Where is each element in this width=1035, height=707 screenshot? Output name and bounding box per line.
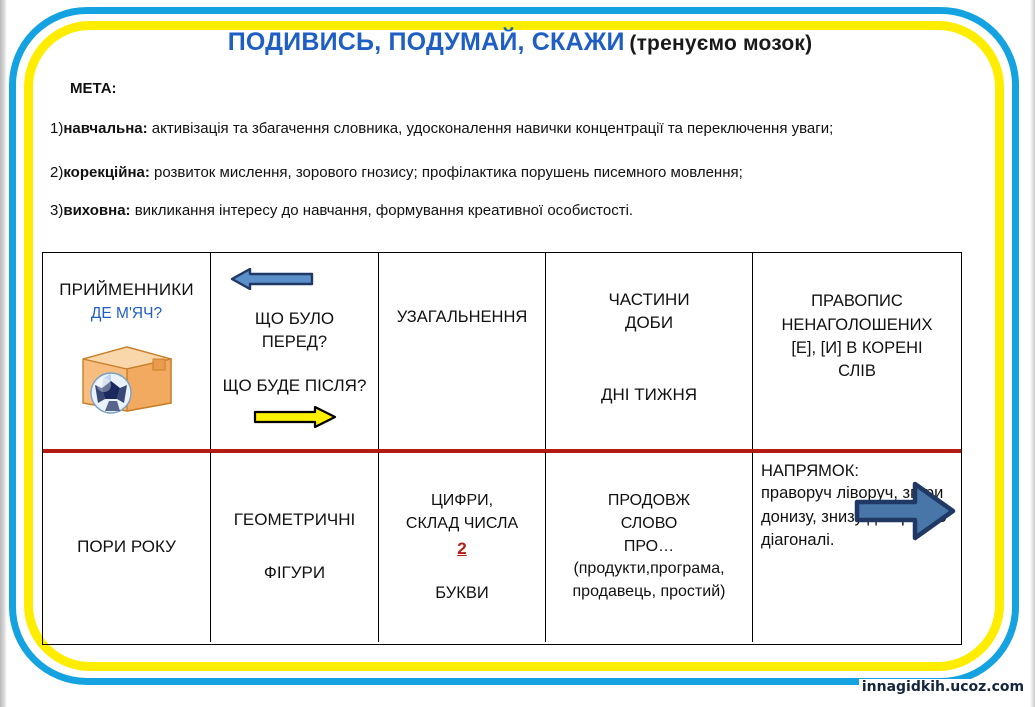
cell-geometric-figures-line1: ГЕОМЕТРИЧНІ (234, 509, 356, 532)
goal-item-1: 1)навчальна: активізація та збагачення с… (50, 120, 833, 137)
goal-item-2-bold: корекційна: (63, 164, 150, 181)
arrow-right-yellow-icon (253, 406, 337, 434)
cell-spelling-line3: [Е], [И] В КОРЕНІ (781, 337, 932, 360)
cell-seasons[interactable]: ПОРИ РОКУ (43, 452, 211, 642)
goal-label: МЕТА: (70, 80, 117, 97)
arrow-left-blue-icon (230, 268, 314, 296)
goal-item-2-num: 2) (50, 164, 63, 181)
cell-numbers-number: 2 (457, 537, 466, 562)
goal-item-3: 3)виховна: викликання інтересу до навчан… (50, 202, 633, 219)
goal-item-3-text: викликання інтересу до навчання, формува… (131, 202, 634, 219)
topics-table: ПРИЙМЕННИКИ ДЕ М'ЯЧ? (42, 252, 962, 645)
cell-geometric-figures[interactable]: ГЕОМЕТРИЧНІ ФІГУРИ (211, 452, 379, 642)
cell-continue-word-line1: ПРОДОВЖ (608, 490, 690, 513)
cell-spelling-line4: СЛІВ (781, 360, 932, 383)
cell-generalization-label: УЗАГАЛЬНЕННЯ (397, 306, 528, 328)
table-row: ПОРИ РОКУ ГЕОМЕТРИЧНІ ФІГУРИ ЦИФРИ, СКЛА… (43, 452, 961, 642)
cell-parts-of-day-line1: ЧАСТИНИ (608, 289, 689, 312)
page-title: ПОДИВИСЬ, ПОДУМАЙ, СКАЖИ (тренуємо мозок… (90, 28, 950, 57)
goal-item-3-num: 3) (50, 202, 63, 219)
cell-parts-of-day-line2: ДОБИ (625, 312, 673, 335)
cell-before-after-line3: ЩО БУДЕ ПІСЛЯ? (223, 375, 367, 398)
goal-item-1-text: активізація та збагачення словника, удос… (148, 120, 834, 137)
watermark-text: innagidkih.ucoz.com (859, 679, 1027, 695)
cell-spelling[interactable]: ПРАВОПИС НЕНАГОЛОШЕНИХ [Е], [И] В КОРЕНІ… (753, 253, 961, 449)
arrow-right-blue-icon (853, 480, 957, 548)
cell-numbers-line2: СКЛАД ЧИСЛА (406, 512, 518, 535)
cell-before-after-line2: ПЕРЕД? (262, 331, 327, 353)
watermark: innagidkih.ucoz.com (859, 677, 1027, 701)
goal-item-2-text: розвиток мислення, зорового гнозису; про… (150, 164, 743, 181)
goal-item-1-num: 1) (50, 120, 63, 137)
goal-item-3-bold: виховна: (63, 202, 130, 219)
cell-prepositions-title: ПРИЙМЕННИКИ (59, 279, 194, 302)
cell-direction[interactable]: НАПРЯМОК: праворуч ліворуч, згори донизу… (753, 452, 961, 642)
cell-spelling-lines: ПРАВОПИС НЕНАГОЛОШЕНИХ [Е], [И] В КОРЕНІ… (781, 290, 932, 384)
cell-spelling-line2: НЕНАГОЛОШЕНИХ (781, 314, 932, 337)
cell-numbers-line1: ЦИФРИ, (431, 489, 493, 512)
goal-item-1-bold: навчальна: (63, 120, 147, 137)
cell-continue-word-line3: ПРО… (624, 536, 674, 559)
cell-parts-of-day[interactable]: ЧАСТИНИ ДОБИ ДНІ ТИЖНЯ (546, 253, 753, 449)
cell-continue-word-line2: СЛОВО (621, 513, 678, 536)
cell-parts-of-day-line3: ДНІ ТИЖНЯ (601, 384, 697, 407)
cell-prepositions[interactable]: ПРИЙМЕННИКИ ДЕ М'ЯЧ? (43, 253, 211, 449)
cell-continue-word-line4: (продукти,програма, (573, 558, 724, 581)
cell-geometric-figures-line2: ФІГУРИ (264, 562, 325, 585)
cell-prepositions-subtitle: ДЕ М'ЯЧ? (91, 304, 162, 325)
cell-before-after-line1: ЩО БУЛО (255, 308, 334, 331)
goal-item-2: 2)корекційна: розвиток мислення, зоровог… (50, 164, 743, 181)
cell-seasons-label: ПОРИ РОКУ (77, 536, 176, 559)
cell-continue-word-line5: продавець, простий) (573, 581, 726, 604)
page-title-sub: (тренуємо мозок) (629, 32, 812, 55)
cell-numbers-line3: БУКВИ (435, 582, 488, 606)
cell-generalization[interactable]: УЗАГАЛЬНЕННЯ (379, 253, 546, 449)
page-title-main: ПОДИВИСЬ, ПОДУМАЙ, СКАЖИ (228, 28, 625, 56)
box-with-ball-icon (73, 333, 181, 423)
cell-numbers[interactable]: ЦИФРИ, СКЛАД ЧИСЛА 2 БУКВИ (379, 452, 546, 642)
cell-continue-word[interactable]: ПРОДОВЖ СЛОВО ПРО… (продукти,програма, п… (546, 452, 753, 642)
slide-content: ПОДИВИСЬ, ПОДУМАЙ, СКАЖИ (тренуємо мозок… (0, 0, 1035, 707)
cell-spelling-line1: ПРАВОПИС (781, 290, 932, 313)
cell-before-after[interactable]: ЩО БУЛО ПЕРЕД? ЩО БУДЕ ПІСЛЯ? (211, 253, 379, 449)
table-row: ПРИЙМЕННИКИ ДЕ М'ЯЧ? (43, 253, 961, 449)
cell-direction-head: НАПРЯМОК: (761, 460, 859, 482)
